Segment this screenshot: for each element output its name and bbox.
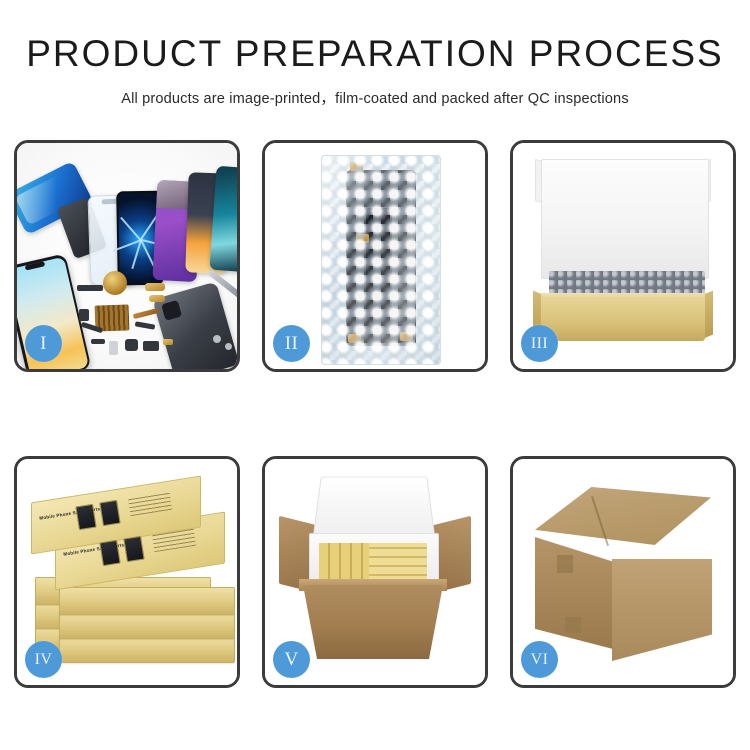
box-window	[99, 540, 121, 567]
white-foam-lid	[541, 159, 709, 279]
small-part	[91, 339, 105, 344]
step-badge-3: III	[521, 325, 558, 362]
small-part	[143, 341, 159, 351]
plastic-sheen	[322, 156, 440, 364]
process-step-grid: I II	[14, 140, 736, 688]
carton-tape-patch	[557, 555, 573, 573]
sim-tray	[109, 341, 118, 355]
bubble-wrap-bag	[321, 155, 441, 365]
kraft-box-front	[541, 299, 705, 341]
foam-box-lid	[313, 477, 436, 538]
step-panel-3[interactable]: III	[510, 140, 736, 372]
page-title: PRODUCT PREPARATION PROCESS	[0, 34, 750, 74]
header: PRODUCT PREPARATION PROCESS All products…	[0, 34, 750, 108]
small-part	[79, 309, 89, 321]
page-root: PRODUCT PREPARATION PROCESS All products…	[0, 0, 750, 750]
step-badge-4: IV	[25, 641, 62, 678]
yellow-boxes-row	[369, 543, 427, 583]
camera-module	[125, 339, 138, 351]
step-badge-6: VI	[521, 641, 558, 678]
small-part	[163, 339, 173, 345]
step-badge-2: II	[273, 325, 310, 362]
small-part	[77, 285, 103, 291]
speaker-component	[103, 271, 127, 295]
carton-tape-patch	[565, 617, 581, 633]
small-part	[145, 283, 165, 291]
step-panel-2[interactable]: II	[262, 140, 488, 372]
small-part	[149, 295, 165, 302]
step-panel-6[interactable]: VI	[510, 456, 736, 688]
stacked-box	[59, 587, 235, 615]
stacked-box	[59, 635, 235, 663]
page-subtitle: All products are image-printed，film-coat…	[0, 87, 750, 108]
step-badge-1: I	[25, 325, 62, 362]
screw	[225, 343, 232, 350]
step-badge-5: V	[273, 641, 310, 678]
carton-front	[303, 585, 443, 659]
step-panel-1[interactable]: I	[14, 140, 240, 372]
stacked-box	[59, 611, 235, 639]
box-window	[99, 500, 121, 527]
screw	[213, 335, 221, 343]
box-window	[75, 504, 97, 531]
step-panel-5[interactable]: V	[262, 456, 488, 688]
step-panel-4[interactable]: Mobile Phone Spare Parts Mobile Phone Sp…	[14, 456, 240, 688]
box-window	[123, 536, 145, 563]
box-stack: Mobile Phone Spare Parts Mobile Phone Sp…	[25, 475, 233, 673]
